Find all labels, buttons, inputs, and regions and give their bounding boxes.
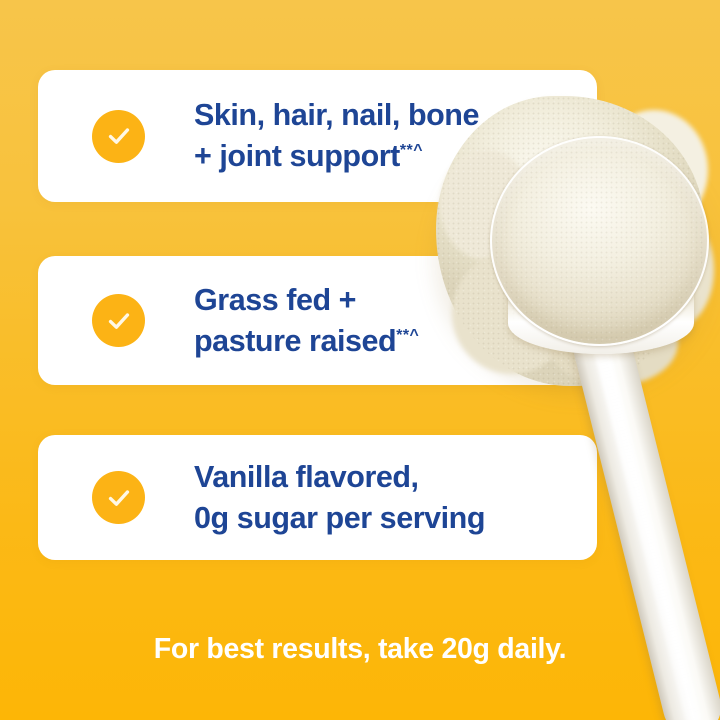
footer-note: For best results, take 20g daily. (0, 630, 720, 668)
benefit-text-1: Skin, hair, nail, bone + joint support**… (194, 95, 577, 177)
benefit-line-3b-text: 0g sugar per serving (194, 501, 485, 535)
powder-lobe (628, 210, 714, 330)
benefit-superscript-1: **^ (400, 142, 423, 159)
benefit-superscript-2: **^ (396, 326, 419, 343)
benefit-card-1: Skin, hair, nail, bone + joint support**… (38, 70, 597, 202)
benefit-line-1a: Skin, hair, nail, bone (194, 95, 577, 136)
powder-lobe (600, 110, 708, 230)
check-circle-icon (92, 110, 145, 163)
benefit-line-3a: Vanilla flavored, (194, 457, 577, 498)
benefits-graphic: Skin, hair, nail, bone + joint support**… (0, 0, 720, 720)
check-circle-icon (92, 294, 145, 347)
benefit-line-3b: 0g sugar per serving (194, 498, 577, 539)
benefit-card-3: Vanilla flavored, 0g sugar per serving (38, 435, 597, 560)
check-circle-icon (92, 471, 145, 524)
benefit-text-2: Grass fed + pasture raised**^ (194, 280, 577, 362)
benefit-line-1b-text: + joint support (194, 139, 400, 173)
benefit-card-2: Grass fed + pasture raised**^ (38, 256, 597, 385)
benefit-line-2b: pasture raised**^ (194, 321, 577, 362)
benefit-line-2a: Grass fed + (194, 280, 577, 321)
benefit-text-3: Vanilla flavored, 0g sugar per serving (194, 457, 577, 539)
benefit-line-1b: + joint support**^ (194, 136, 577, 177)
benefit-line-2b-text: pasture raised (194, 324, 396, 358)
